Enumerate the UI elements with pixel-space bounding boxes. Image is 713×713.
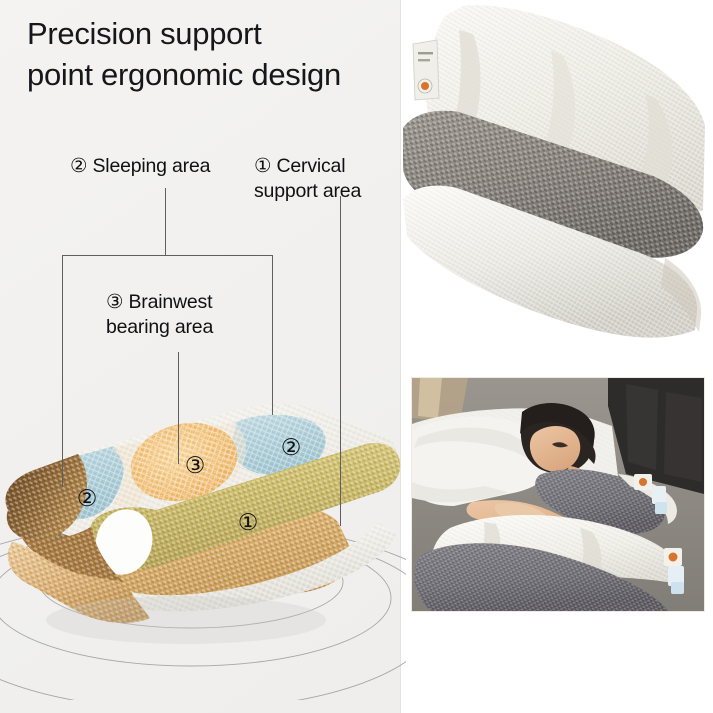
- diagram-marker-2-left: ②: [77, 485, 98, 511]
- diagram-marker-2-right: ②: [281, 434, 302, 460]
- leader-line-cervical-support: [340, 196, 341, 526]
- leader-line-sleeping-left-leg: [62, 255, 63, 487]
- infographic-canvas: Precision support point ergonomic design…: [0, 0, 713, 713]
- pillow-diagram-illustration: ② ② ③ ①: [0, 370, 406, 700]
- diagram-marker-3: ③: [185, 452, 206, 478]
- photo-top-right: [403, 0, 713, 360]
- page-title: Precision support point ergonomic design: [27, 13, 427, 95]
- leader-line-sleeping-right-leg: [272, 255, 273, 415]
- leader-line-sleeping-bracket: [62, 255, 273, 256]
- diagram-marker-1: ①: [238, 509, 259, 535]
- photo-bottom-right-frame: [412, 378, 704, 611]
- leader-line-sleeping-stem: [165, 188, 166, 256]
- callout-label-sleeping-area: ② Sleeping area: [70, 154, 210, 179]
- callout-label-cervical-support-area: ① Cervical support area: [254, 154, 361, 204]
- callout-label-brainwest-bearing-area: ③ Brainwest bearing area: [106, 290, 213, 340]
- leader-line-brainwest-bearing: [178, 352, 179, 464]
